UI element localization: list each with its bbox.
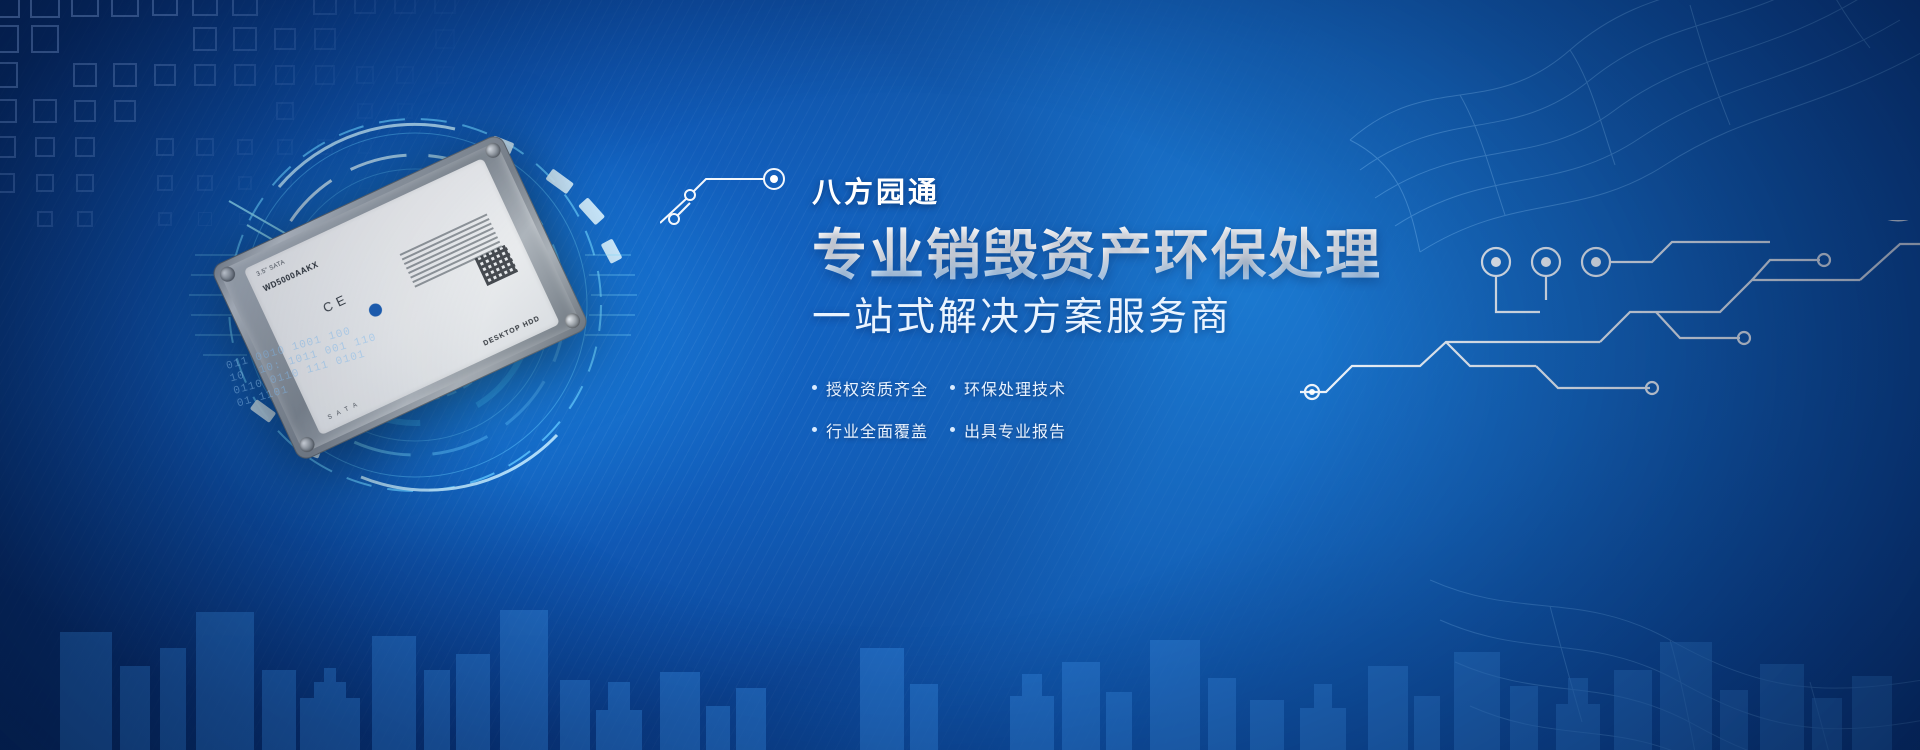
- grid-square: [394, 0, 416, 14]
- grid-square: [275, 65, 295, 85]
- grid-square: [276, 102, 294, 120]
- glowing-tech-ring: [155, 105, 675, 505]
- grid-square: [441, 215, 450, 224]
- grid-square: [77, 211, 93, 227]
- grid-square: [435, 29, 454, 48]
- grid-square: [30, 0, 59, 18]
- grid-square: [397, 103, 413, 119]
- feature-item: 行业全面覆盖: [812, 418, 950, 442]
- grid-square: [237, 139, 254, 156]
- feature-label: 行业全面覆盖: [826, 418, 928, 442]
- grid-square: [75, 137, 95, 157]
- grid-square: [436, 66, 453, 83]
- grid-square: [357, 103, 374, 120]
- grid-square: [234, 64, 255, 85]
- grid-square: [156, 138, 175, 157]
- banner-copy: 八方园通 专业销毁资产环保处理 一站式解决方案服务商 授权资质齐全 环保处理技术…: [812, 178, 1572, 442]
- city-skyline-silhouette: [0, 520, 1920, 750]
- feature-label: 环保处理技术: [964, 376, 1066, 400]
- feature-label: 出具专业报告: [964, 418, 1066, 442]
- headline: 专业销毁资产环保处理: [812, 226, 1572, 284]
- grid-square: [71, 0, 99, 17]
- hdd-certification-marks: CE: [320, 290, 352, 315]
- grid-square: [36, 174, 55, 193]
- grid-square: [434, 0, 455, 14]
- grid-square: [114, 100, 135, 121]
- grid-square: [74, 100, 96, 122]
- grid-square: [0, 136, 16, 158]
- grid-square: [152, 0, 179, 16]
- grid-square: [76, 174, 94, 192]
- grid-square: [37, 211, 54, 228]
- feature-label: 授权资质齐全: [826, 376, 928, 400]
- grid-square: [113, 63, 136, 86]
- brand-name: 八方园通: [812, 178, 1572, 210]
- bullet-dot-icon: [812, 427, 817, 432]
- grid-square: [154, 64, 177, 87]
- bullet-dot-icon: [950, 385, 955, 390]
- grid-square: [157, 175, 174, 192]
- grid-square: [31, 25, 58, 52]
- hdd-label-dot: [367, 301, 384, 318]
- hdd-datamatrix-code: [475, 244, 518, 286]
- grid-square: [278, 176, 292, 190]
- grid-square: [356, 66, 375, 85]
- grid-square: [314, 28, 336, 50]
- hdd-label-interface: S A T A: [327, 402, 360, 422]
- bullet-dot-icon: [950, 427, 955, 432]
- feature-item: 环保处理技术: [950, 376, 1066, 400]
- grid-square: [0, 25, 19, 53]
- promo-banner: 3.5" SATA WD5000AAKX CE DESKTOP HDD S A …: [0, 0, 1920, 750]
- grid-square: [35, 137, 56, 158]
- grid-square: [440, 178, 451, 189]
- grid-square: [239, 213, 252, 226]
- grid-square: [354, 0, 377, 14]
- grid-square: [359, 177, 372, 190]
- grid-square: [198, 212, 212, 226]
- wireframe-mesh-bottom-right: [1430, 510, 1920, 750]
- circuit-trace-node-icon: [660, 165, 800, 225]
- grid-square: [317, 139, 332, 154]
- grid-square: [358, 140, 373, 155]
- hdd-label-model: DESKTOP HDD: [483, 315, 542, 347]
- grid-square: [73, 63, 97, 87]
- grid-square: [315, 65, 334, 84]
- grid-square: [197, 175, 213, 191]
- hard-disk-drive-image: 3.5" SATA WD5000AAKX CE DESKTOP HDD S A …: [210, 132, 591, 462]
- grid-square: [437, 103, 452, 118]
- grid-square: [232, 0, 257, 16]
- bullet-dot-icon: [812, 385, 817, 390]
- grid-square: [313, 0, 337, 15]
- pixel-square-grid: [0, 0, 510, 248]
- hdd-label-top: 3.5" SATA: [256, 260, 286, 278]
- grid-square: [0, 0, 20, 18]
- grid-square: [400, 214, 410, 224]
- grid-square: [194, 64, 216, 86]
- grid-square: [111, 0, 139, 17]
- grid-square: [158, 212, 172, 226]
- binary-code-text: 011 0010 1001 100 10 10: 1011 001 110 01…: [225, 301, 451, 412]
- hdd-label-brand: WD5000AAKX: [262, 260, 320, 293]
- grid-square: [277, 139, 293, 155]
- grid-square: [192, 0, 218, 16]
- grid-square: [33, 99, 56, 122]
- feature-list: 授权资质齐全 环保处理技术 行业全面覆盖 出具专业报告: [812, 376, 1132, 442]
- subheadline: 一站式解决方案服务商: [812, 296, 1572, 340]
- grid-square: [0, 62, 18, 88]
- grid-square: [233, 27, 256, 50]
- feature-item: 授权资质齐全: [812, 376, 950, 400]
- grid-square: [360, 214, 370, 224]
- hdd-label-fineprint: [400, 214, 504, 291]
- grid-square: [274, 28, 296, 50]
- feature-row: 行业全面覆盖 出具专业报告: [812, 418, 1132, 442]
- grid-square: [193, 27, 217, 51]
- feature-row: 授权资质齐全 环保处理技术: [812, 376, 1132, 400]
- grid-square: [399, 177, 411, 189]
- grid-square: [196, 138, 214, 156]
- feature-item: 出具专业报告: [950, 418, 1066, 442]
- grid-square: [238, 176, 253, 191]
- grid-square: [396, 66, 414, 84]
- grid-square: [319, 213, 330, 224]
- grid-square: [0, 99, 17, 123]
- grid-square: [0, 173, 15, 193]
